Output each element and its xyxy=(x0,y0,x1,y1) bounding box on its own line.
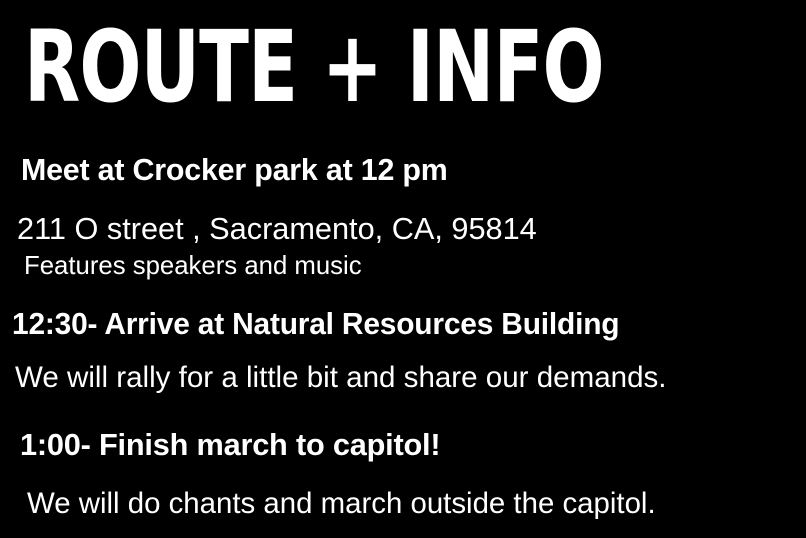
schedule-note-100: We will do chants and march outside the … xyxy=(27,487,656,521)
schedule-heading-1230: 12:30- Arrive at Natural Resources Build… xyxy=(12,306,619,342)
meet-point-address: 211 O street , Sacramento, CA, 95814 xyxy=(17,211,537,247)
flyer-canvas: ROUTE + INFO Meet at Crocker park at 12 … xyxy=(0,0,806,538)
meet-point-heading: Meet at Crocker park at 12 pm xyxy=(21,152,448,188)
schedule-note-1230: We will rally for a little bit and share… xyxy=(15,361,666,395)
meet-point-note: Features speakers and music xyxy=(24,250,362,281)
page-title: ROUTE + INFO xyxy=(24,18,604,117)
schedule-heading-100: 1:00- Finish march to capitol! xyxy=(20,427,440,463)
